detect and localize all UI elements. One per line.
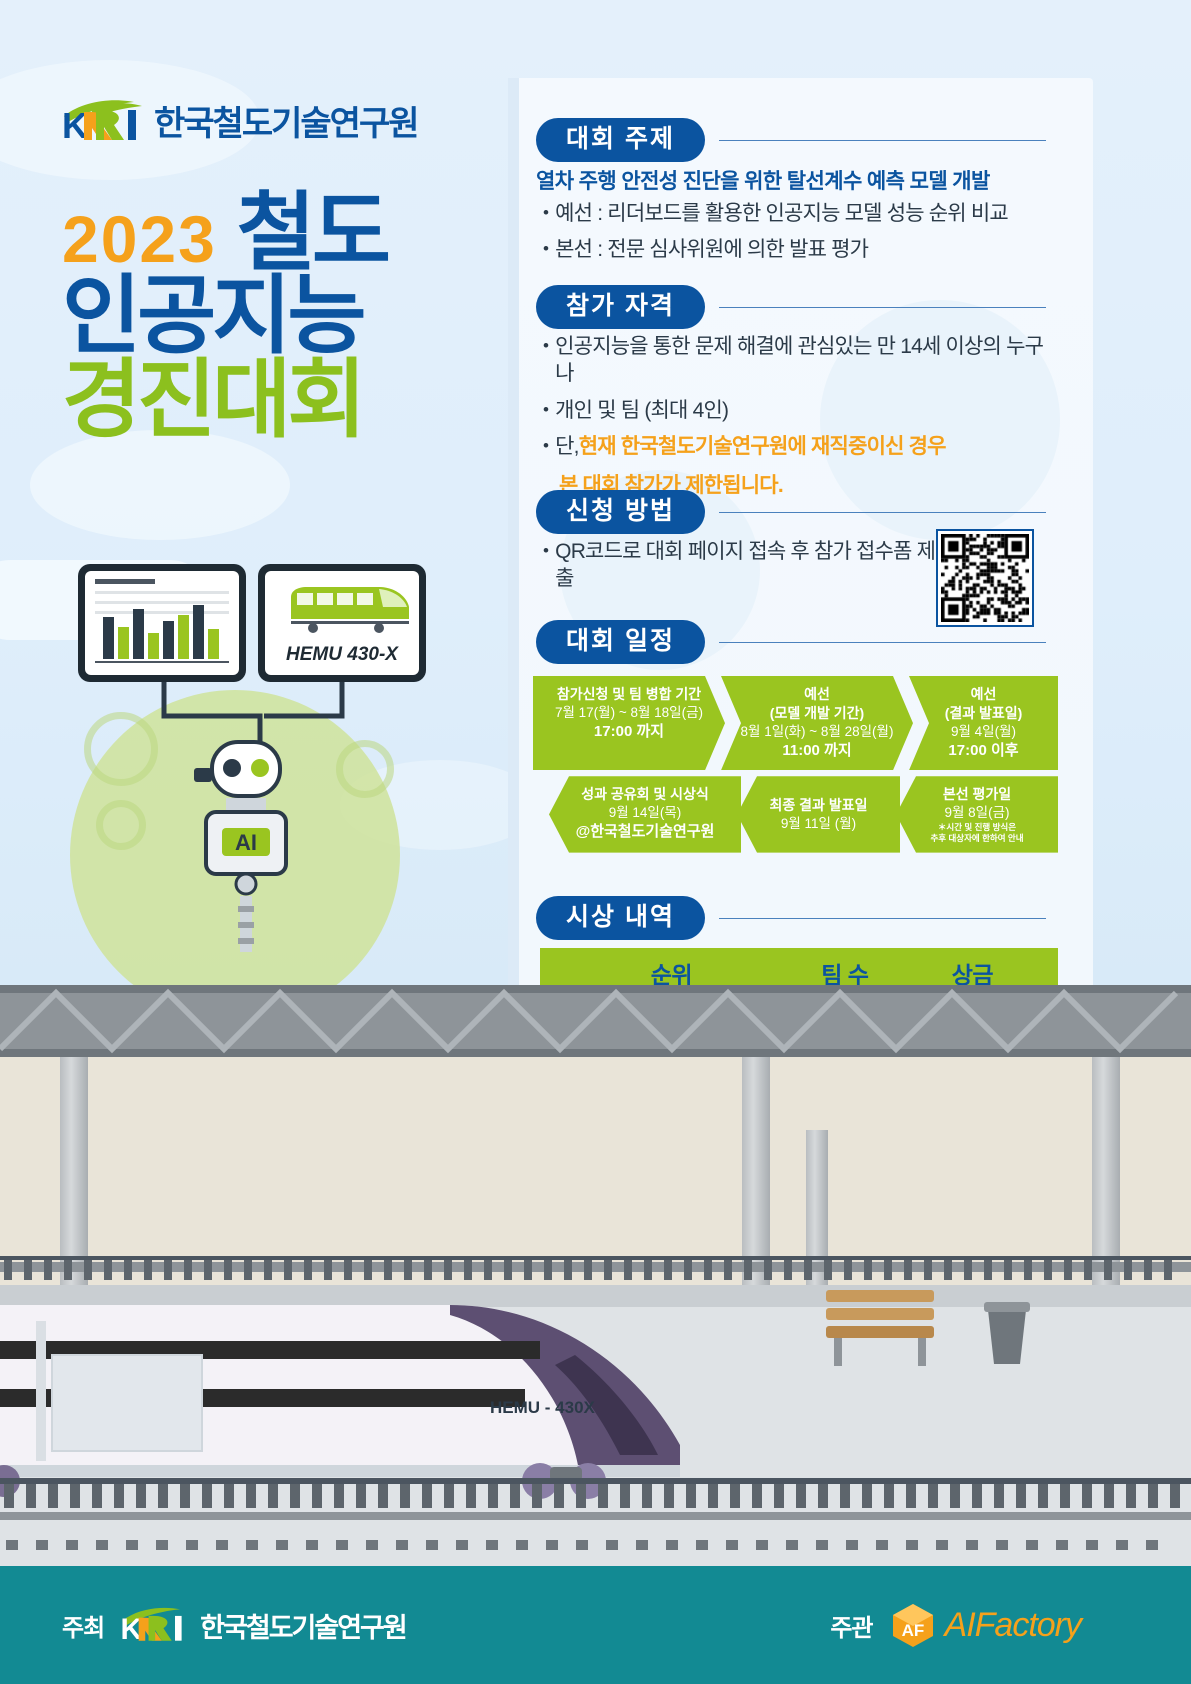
section-apply-heading: 신청 방법: [536, 490, 1046, 534]
footer-krri-logo-mark: K: [120, 1606, 192, 1644]
schedule-step-subtitle: (모델 개발 기간): [727, 704, 907, 723]
eligibility-heading-pill: 참가 자격: [536, 285, 705, 329]
schedule-step-date: 9월 8일(금): [902, 804, 1052, 822]
list-item-text: 개인 및 팀 (최대 4인): [555, 397, 728, 424]
schedule-heading-pill: 대회 일정: [536, 620, 705, 664]
list-item-restriction: • 단, 현재 한국철도기술연구원에 재직중이신 경우: [543, 433, 1053, 460]
title-line-1: 2023 철도: [62, 192, 492, 275]
list-item: •QR코드로 대회 페이지 접속 후 참가 접수폼 제출: [543, 538, 943, 593]
schedule-step-date: 9월 11일 (월): [743, 815, 894, 833]
list-item-text: QR코드로 대회 페이지 접속 후 참가 접수폼 제출: [555, 538, 943, 593]
schedule-step: 참가신청 및 팀 병합 기간 7월 17(월) ~ 8월 18일(금) 17:0…: [533, 676, 725, 770]
heading-rule: [719, 307, 1046, 308]
schedule-step: 예선 (모델 개발 기간) 8월 1일(화) ~ 8월 28일(월) 11:00…: [721, 676, 913, 770]
schedule-step-subtitle: (결과 발표일): [915, 704, 1052, 723]
schedule-step-title: 성과 공유회 및 시상식: [555, 785, 735, 804]
schedule-step-title: 최종 결과 발표일: [743, 796, 894, 815]
footer-host-name: 한국철도기술연구원: [200, 1606, 406, 1645]
list-item-text: 본선 : 전문 심사위원에 의한 발표 평가: [555, 236, 868, 263]
truss-lattice: [0, 985, 1191, 1057]
topic-bullets: •예선 : 리더보드를 활용한 인공지능 모델 성능 순위 비교 •본선 : 전…: [543, 200, 1043, 273]
awards-heading-pill: 시상 내역: [536, 896, 705, 940]
robot-illustration: AI: [182, 740, 310, 1000]
section-eligibility-heading: 참가 자격: [536, 285, 1046, 329]
schedule-step-date: 7월 17(월) ~ 8월 18일(금): [539, 704, 719, 722]
schedule-step-title: 예선: [915, 685, 1052, 704]
footer-bar: 주최 K 한국철도기술연구원 주관 AF AIFactory: [0, 1566, 1191, 1684]
bullet-dot: •: [543, 538, 548, 564]
schedule-step: 예선 (결과 발표일) 9월 4일(월) 17:00 이후: [909, 676, 1058, 770]
footer-host: 주최 K 한국철도기술연구원: [62, 1606, 406, 1645]
title-line-3: 경진대회: [62, 359, 492, 442]
schedule-step-date: 9월 4일(월): [915, 723, 1052, 741]
section-awards-heading: 시상 내역: [536, 896, 1046, 940]
schedule-step-note-1: ＊시간 및 진행 방식은: [902, 822, 1052, 833]
schedule-step-title: 참가신청 및 팀 병합 기간: [539, 685, 719, 704]
train-screen: HEMU 430-X: [258, 564, 426, 682]
qr-code-canvas: [941, 534, 1029, 622]
list-item-text: 인공지능을 통한 문제 해결에 관심있는 만 14세 이상의 누구나: [555, 333, 1053, 388]
krri-logo-mark: K: [62, 98, 148, 144]
list-item: •예선 : 리더보드를 활용한 인공지능 모델 성능 순위 비교: [543, 200, 1043, 227]
section-topic-heading: 대회 주제: [536, 118, 1046, 162]
footer-organizer: 주관 AF AIFactory: [830, 1602, 1081, 1648]
schedule-step-title: 본선 평가일: [902, 785, 1052, 804]
schedule-step-date: 9월 14일(목): [555, 804, 735, 822]
list-item-text: 예선 : 리더보드를 활용한 인공지능 모델 성능 순위 비교: [555, 200, 1008, 227]
apply-bullets: •QR코드로 대회 페이지 접속 후 참가 접수폼 제출: [543, 538, 943, 602]
bench-illustration: [820, 1282, 942, 1368]
section-schedule-heading: 대회 일정: [536, 620, 1046, 664]
bullet-dot: •: [543, 433, 548, 459]
schedule-row-2: 성과 공유회 및 시상식 9월 14일(목) @한국철도기술연구원 최종 결과 …: [533, 776, 1058, 852]
aifactory-logo-mark: AF: [891, 1602, 935, 1648]
schedule-step: 성과 공유회 및 시상식 9월 14일(목) @한국철도기술연구원: [549, 776, 741, 852]
bullet-dot: •: [543, 236, 548, 262]
rail-ties-upper: [0, 1252, 1191, 1282]
schedule-step: 최종 결과 발표일 9월 11일 (월): [737, 776, 900, 852]
heading-rule: [719, 512, 1046, 513]
bullet-dot: •: [543, 200, 548, 226]
heading-rule: [719, 642, 1046, 643]
topic-subtitle: 열차 주행 안전성 진단을 위한 탈선계수 예측 모델 개발: [536, 165, 990, 195]
schedule-step-venue: @한국철도기술연구원: [555, 822, 735, 842]
svg-text:AI: AI: [235, 830, 257, 855]
schedule-step-time: 17:00 까지: [539, 722, 719, 742]
schedule-step-time: 17:00 이후: [915, 741, 1052, 761]
title-year: 2023: [62, 202, 217, 276]
footer-organizer-label: 주관: [830, 1608, 872, 1643]
bullet-dot: •: [543, 333, 548, 359]
schedule-chart: 참가신청 및 팀 병합 기간 7월 17(월) ~ 8월 18일(금) 17:0…: [533, 676, 1058, 859]
topic-heading-pill: 대회 주제: [536, 118, 705, 162]
title-railway: 철도: [237, 185, 387, 281]
restriction-highlight: 현재 한국철도기술연구원에 재직중이신 경우: [579, 433, 946, 460]
chart-screen: [78, 564, 246, 682]
schedule-step-date: 8월 1일(화) ~ 8월 28일(월): [727, 723, 907, 741]
list-item: •본선 : 전문 심사위원에 의한 발표 평가: [543, 236, 1043, 263]
schedule-step-note-2: 추후 대상자에 한하여 안내: [902, 833, 1052, 844]
footer-host-label: 주최: [62, 1608, 104, 1643]
train-panel-label: HEMU 430-X: [265, 644, 419, 666]
svg-text:AF: AF: [901, 1621, 924, 1640]
eligibility-bullets: •인공지능을 통한 문제 해결에 관심있는 만 14세 이상의 누구나 •개인 …: [543, 333, 1053, 499]
krri-logo-text: 한국철도기술연구원: [154, 96, 418, 145]
list-item: •개인 및 팀 (최대 4인): [543, 397, 1053, 424]
apply-heading-pill: 신청 방법: [536, 490, 705, 534]
list-item: •인공지능을 통한 문제 해결에 관심있는 만 14세 이상의 누구나: [543, 333, 1053, 388]
title-line-2: 인공지능: [62, 275, 492, 358]
bar-chart-icon: [85, 571, 239, 675]
heading-rule: [719, 140, 1046, 141]
page-title: 2023 철도 인공지능 경진대회: [62, 192, 492, 442]
ballast-row: [0, 1540, 1191, 1568]
rail-ties-lower: [0, 1478, 1191, 1522]
train-icon: [283, 581, 413, 637]
schedule-step-title: 예선: [727, 685, 907, 704]
restriction-prefix: 단,: [555, 433, 579, 460]
schedule-step-time: 11:00 까지: [727, 741, 907, 761]
train-side-label: HEMU - 430X: [490, 1398, 596, 1417]
schedule-step: 본선 평가일 9월 8일(금) ＊시간 및 진행 방식은 추후 대상자에 한하여…: [896, 776, 1058, 852]
krri-logo: K 한국철도기술연구원: [62, 96, 418, 145]
heading-rule: [719, 918, 1046, 919]
gear-icon: [96, 800, 146, 850]
schedule-row-1: 참가신청 및 팀 병합 기간 7월 17(월) ~ 8월 18일(금) 17:0…: [533, 676, 1058, 770]
trash-bin-icon: [980, 1296, 1034, 1368]
qr-code[interactable]: [936, 529, 1034, 627]
footer-organizer-name: AIFactory: [945, 1606, 1081, 1645]
bullet-dot: •: [543, 397, 548, 423]
